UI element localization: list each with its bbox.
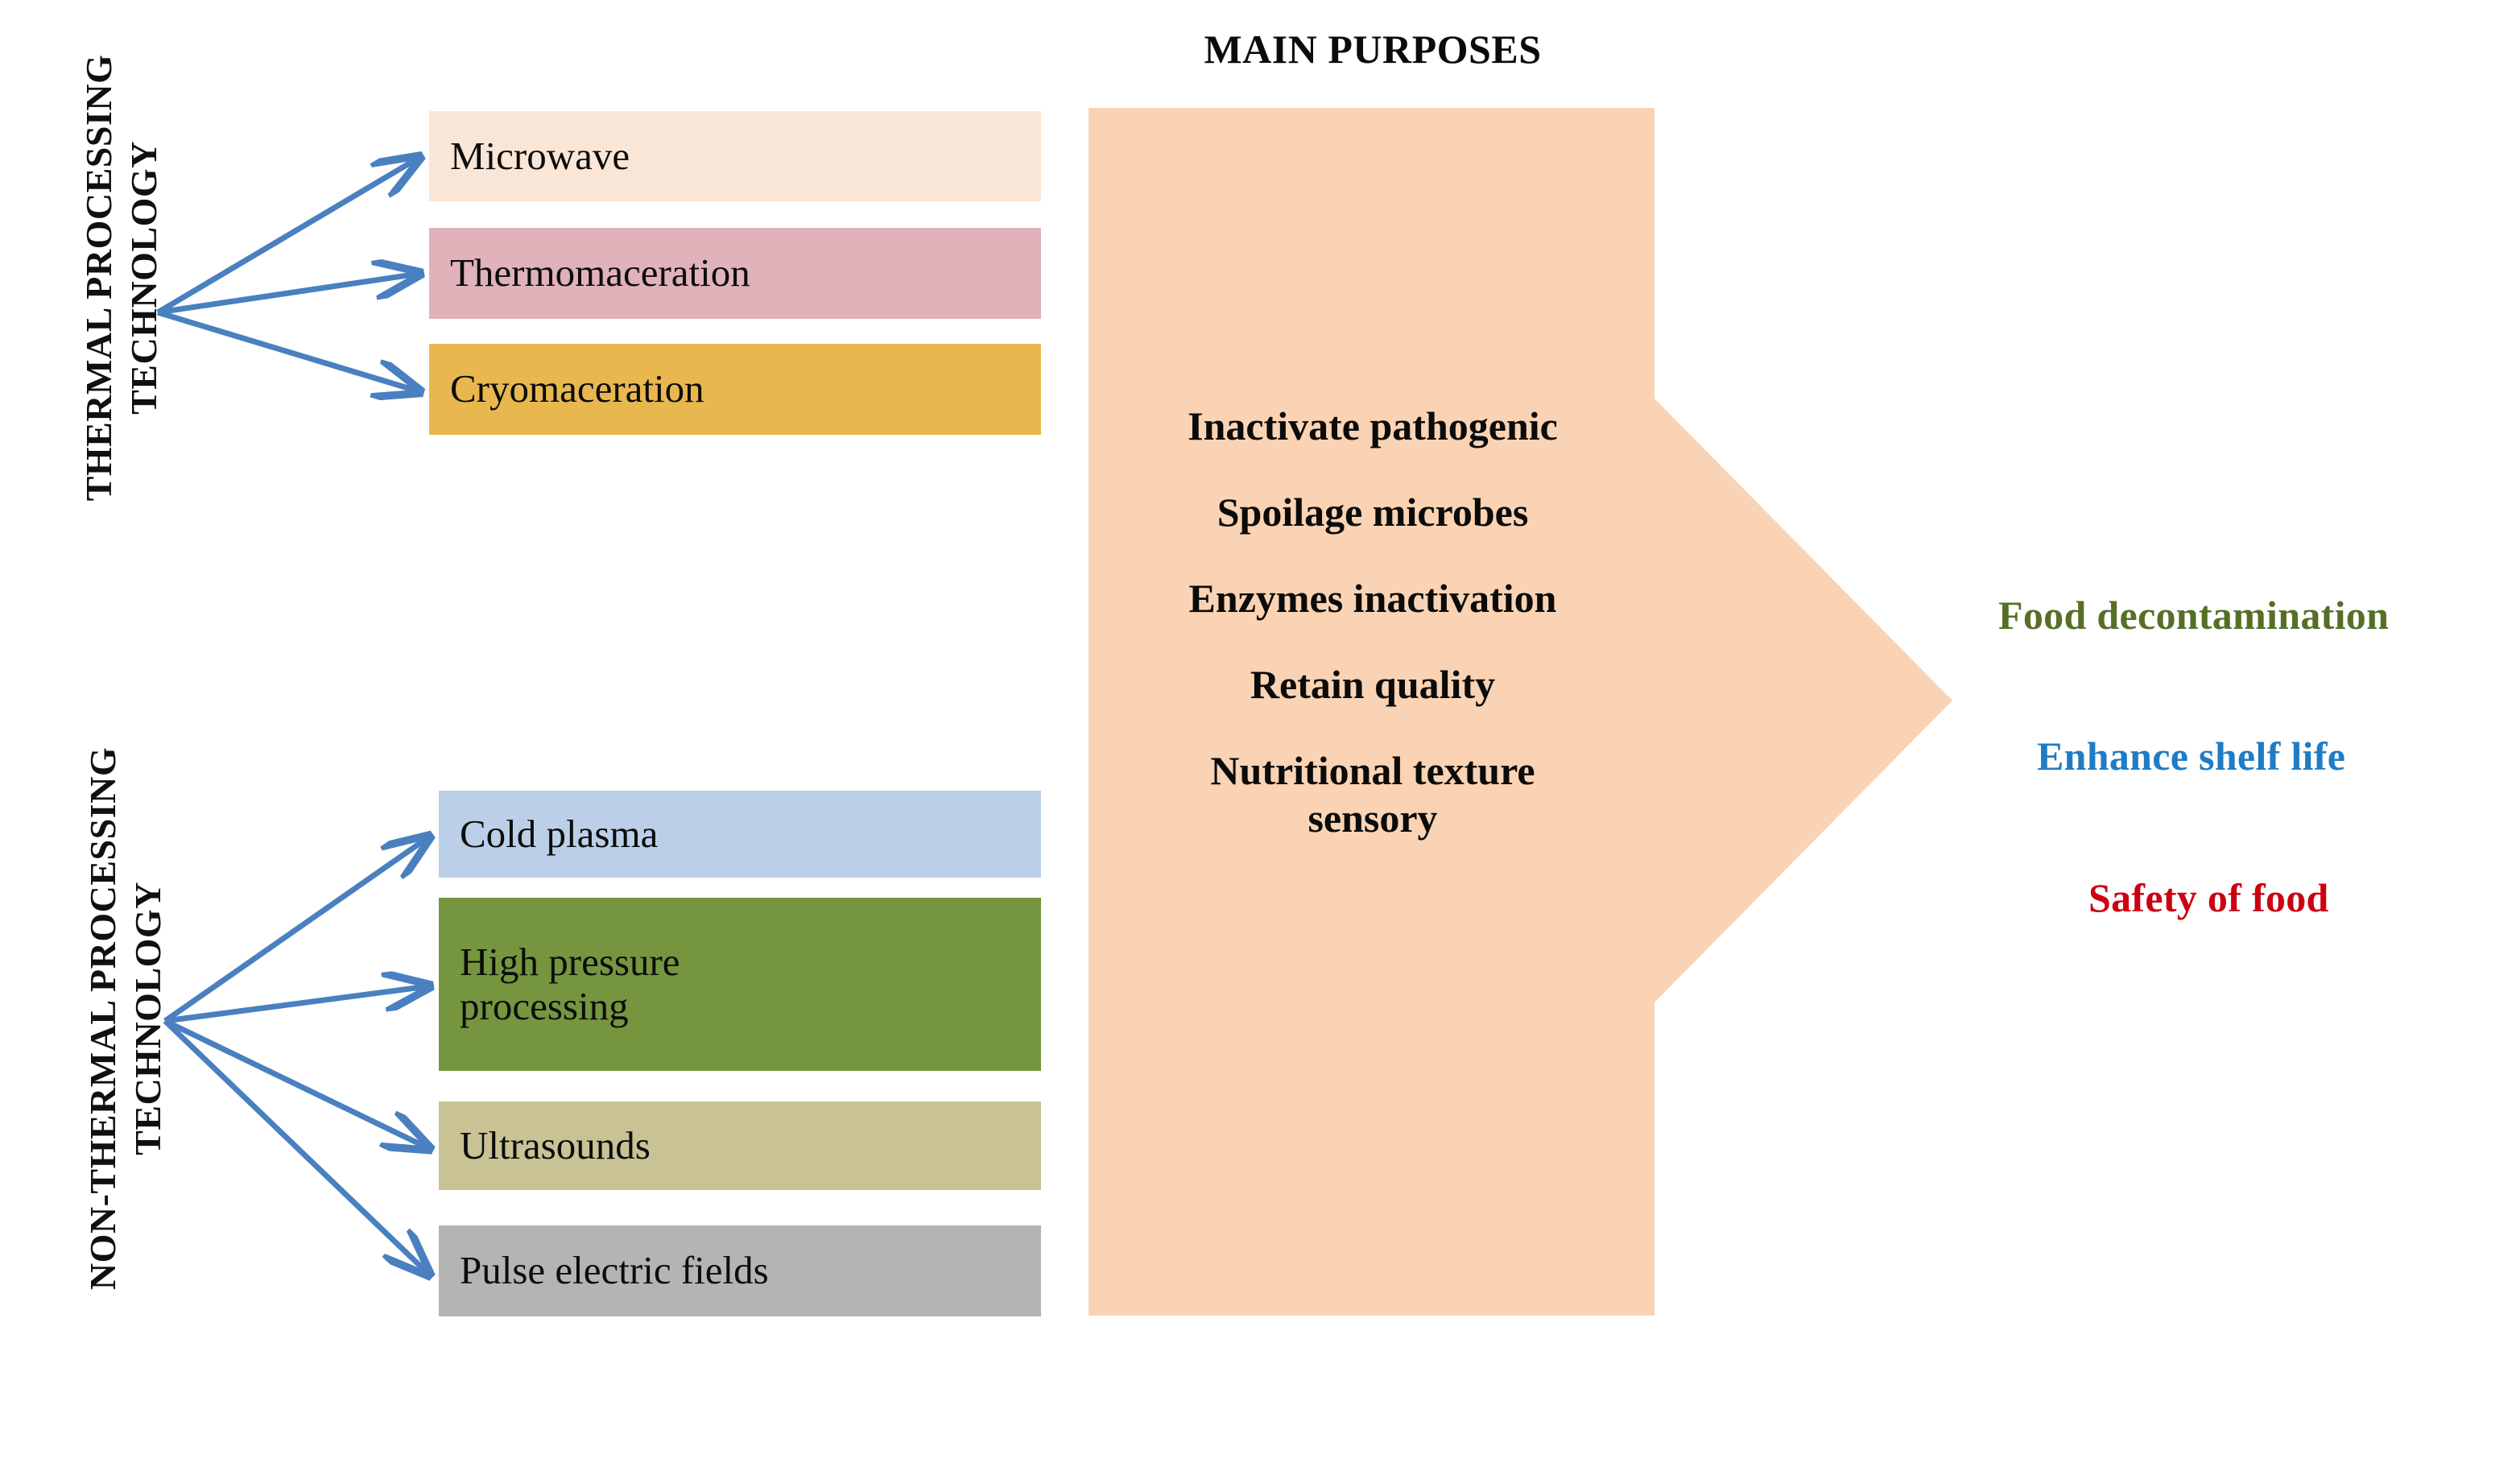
main-purposes-list: Inactivate pathogenic Spoilage microbes … — [1089, 403, 1657, 842]
tech-box-cryomaceration[interactable]: Cryomaceration — [429, 344, 1041, 435]
tech-box-label: Pulse electric fields — [460, 1249, 769, 1293]
tech-box-label: Microwave — [450, 134, 630, 179]
tech-box-cold-plasma[interactable]: Cold plasma — [439, 791, 1041, 878]
tech-box-pulse-electric-fields[interactable]: Pulse electric fields — [439, 1225, 1041, 1316]
main-purposes-title: MAIN PURPOSES — [1089, 26, 1657, 72]
tech-box-label: Thermomaceration — [450, 251, 750, 295]
tech-box-label: Cryomaceration — [450, 367, 704, 411]
tech-box-microwave[interactable]: Microwave — [429, 111, 1041, 201]
tech-box-thermomaceration[interactable]: Thermomaceration — [429, 228, 1041, 319]
connector-nonthermal-4 — [165, 1021, 428, 1274]
category-label-thermal: THERMAL PROCESSING TECHNOLOGY — [76, 28, 165, 527]
connector-nonthermal-2 — [165, 986, 428, 1021]
outcome-enhance-shelf-life: Enhance shelf life — [2037, 733, 2345, 779]
connector-thermal-3 — [158, 312, 419, 391]
purpose-item: Inactivate pathogenic — [1089, 403, 1657, 450]
connector-thermal-1 — [158, 158, 419, 312]
tech-box-label: Ultrasounds — [460, 1124, 651, 1168]
diagram-canvas: THERMAL PROCESSING TECHNOLOGY NON-THERMA… — [0, 0, 2520, 1467]
outcome-food-decontamination: Food decontamination — [1998, 592, 2389, 638]
purpose-item: Nutritional texture sensory — [1089, 747, 1657, 842]
purpose-item: Retain quality — [1089, 661, 1657, 709]
purpose-item: Enzymes inactivation — [1089, 575, 1657, 622]
category-label-non-thermal: NON-THERMAL PROCESSING TECHNOLOGY — [81, 684, 169, 1353]
tech-box-ultrasounds[interactable]: Ultrasounds — [439, 1101, 1041, 1190]
tech-box-high-pressure-processing[interactable]: High pressure processing — [439, 898, 1041, 1071]
connector-thermal-2 — [158, 274, 419, 312]
tech-box-label: Cold plasma — [460, 812, 658, 857]
connector-nonthermal-1 — [165, 837, 428, 1021]
tech-box-label: High pressure processing — [460, 940, 680, 1029]
purpose-item: Spoilage microbes — [1089, 489, 1657, 536]
connector-nonthermal-3 — [165, 1021, 428, 1148]
outcome-safety-of-food: Safety of food — [2088, 874, 2329, 921]
